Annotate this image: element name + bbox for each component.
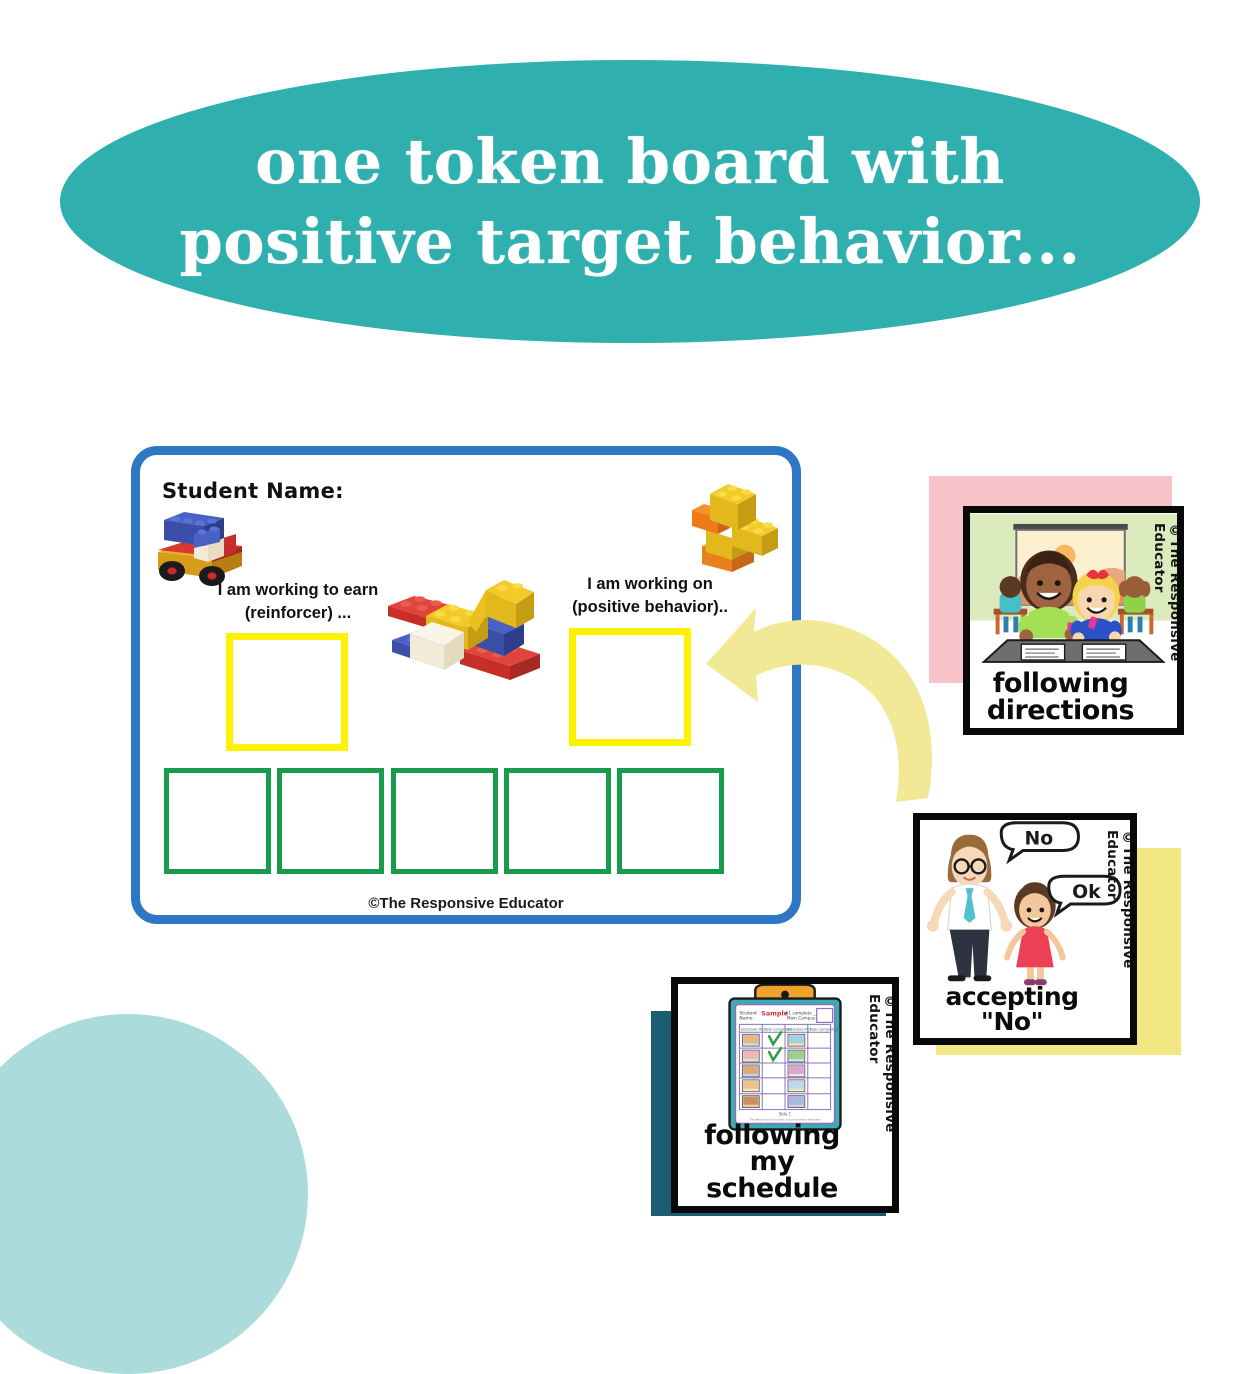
accepting-no-scene: No Ok bbox=[920, 820, 1130, 992]
card-caption-line-2: directions bbox=[970, 698, 1151, 724]
watermark-text: ©The Responsive Educator bbox=[1104, 830, 1128, 1034]
token-slot[interactable] bbox=[164, 768, 271, 874]
lego-duck-icon bbox=[674, 472, 784, 582]
token-slot[interactable] bbox=[277, 768, 384, 874]
page-title-line-1: one token board with bbox=[179, 122, 1080, 201]
card-caption: following my schedule bbox=[678, 1123, 866, 1202]
title-banner: one token board with positive target beh… bbox=[60, 60, 1200, 343]
svg-text:Schedule Pics: Schedule Pics bbox=[787, 1027, 811, 1031]
target-behavior-slot[interactable] bbox=[569, 628, 691, 746]
page-title-line-2: positive target behavior... bbox=[179, 202, 1080, 281]
card-caption-line-1: accepting "No" bbox=[920, 985, 1104, 1034]
card-following-my-schedule[interactable]: Student Name: Sample #1 complete _____ A… bbox=[671, 977, 899, 1213]
card-following-directions[interactable]: following directions ©The Responsive Edu… bbox=[963, 506, 1184, 735]
board-credit-text: ©The Responsive Educator bbox=[140, 895, 792, 912]
lego-airplane-icon bbox=[382, 572, 548, 696]
page-title: one token board with positive target beh… bbox=[179, 122, 1080, 281]
token-slot[interactable] bbox=[504, 768, 611, 874]
card-caption: accepting "No" bbox=[920, 985, 1104, 1034]
svg-text:Schedule Pics: Schedule Pics bbox=[741, 1027, 765, 1031]
svg-text:Task Completed: Task Completed bbox=[809, 1027, 838, 1031]
watermark-text: ©The Responsive Educator bbox=[866, 994, 890, 1202]
speech-no-text: No bbox=[1025, 829, 1054, 850]
svg-text:Main Campus: Main Campus bbox=[787, 1015, 815, 1020]
curved-arrow bbox=[700, 598, 950, 818]
reinforcer-slot[interactable] bbox=[226, 633, 348, 751]
token-slot-row bbox=[164, 768, 724, 874]
card-accepting-no[interactable]: No Ok accepting "No" ©The Responsive Edu… bbox=[913, 813, 1137, 1045]
decorative-teal-circle bbox=[0, 1014, 308, 1374]
card-caption: following directions bbox=[970, 671, 1151, 724]
watermark-text: ©The Responsive Educator bbox=[1151, 523, 1175, 724]
lego-truck-icon bbox=[150, 500, 250, 588]
curved-arrow-icon bbox=[700, 598, 950, 818]
svg-text:Side 1: Side 1 bbox=[779, 1112, 792, 1117]
speech-ok-text: Ok bbox=[1072, 882, 1101, 903]
token-slot[interactable] bbox=[391, 768, 498, 874]
working-to-earn-line-2: (reinforcer) ... bbox=[198, 602, 398, 625]
card-caption-line-1: following my bbox=[678, 1123, 866, 1176]
card-caption-line-1: following bbox=[970, 671, 1151, 697]
classroom-scene bbox=[970, 513, 1177, 663]
svg-text:Name:: Name: bbox=[739, 1015, 754, 1021]
card-caption-line-2: schedule bbox=[678, 1176, 866, 1202]
